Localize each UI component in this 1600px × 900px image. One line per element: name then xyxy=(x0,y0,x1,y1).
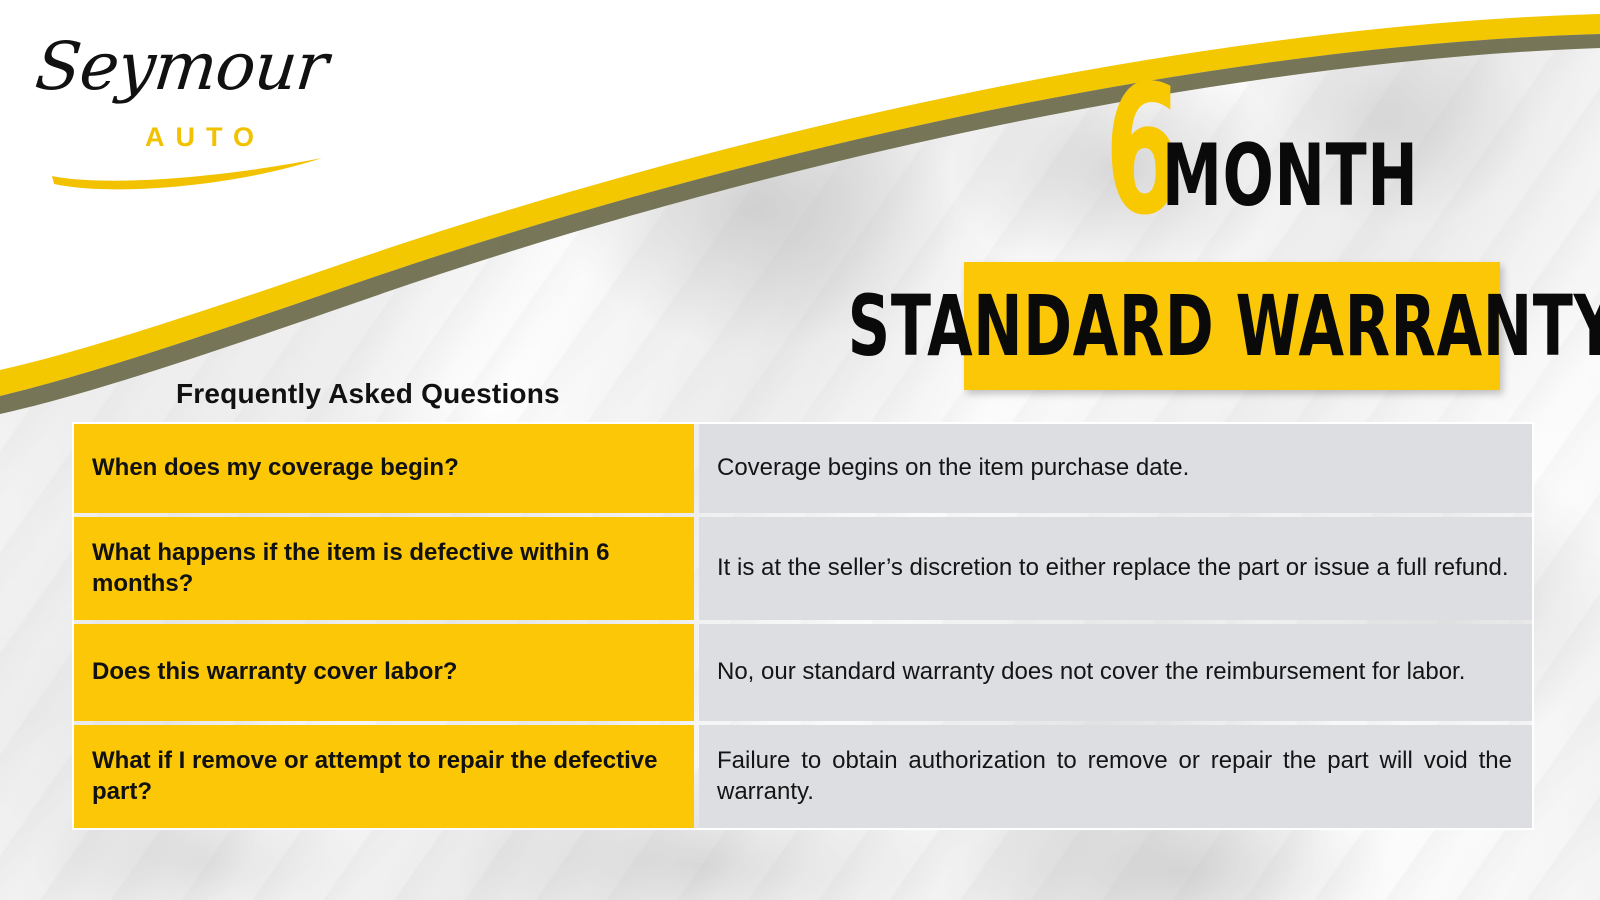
faq-question-cell: What happens if the item is defective wi… xyxy=(74,517,694,620)
table-row: What happens if the item is defective wi… xyxy=(74,517,1532,620)
logo-wordmark: Seymour xyxy=(32,28,331,105)
faq-question-cell: When does my coverage begin? xyxy=(74,424,694,513)
logo-swoosh-icon xyxy=(30,132,330,192)
warranty-duration-badge: 6 MONTH xyxy=(1060,78,1528,224)
faq-heading: Frequently Asked Questions xyxy=(176,378,560,410)
table-row: Does this warranty cover labor? No, our … xyxy=(74,624,1532,721)
warranty-slide: Seymour AUTO 6 MONTH STANDARD WARRANTY F… xyxy=(0,0,1600,900)
faq-question-cell: What if I remove or attempt to repair th… xyxy=(74,725,694,828)
standard-warranty-banner: STANDARD WARRANTY xyxy=(964,262,1500,390)
faq-question-cell: Does this warranty cover labor? xyxy=(74,624,694,721)
faq-answer-cell: Failure to obtain authorization to remov… xyxy=(699,725,1532,828)
faq-answer-cell: It is at the seller’s discretion to eith… xyxy=(699,517,1532,620)
faq-answer-cell: Coverage begins on the item purchase dat… xyxy=(699,424,1532,513)
faq-answer-cell: No, our standard warranty does not cover… xyxy=(699,624,1532,721)
standard-warranty-title: STANDARD WARRANTY xyxy=(847,284,1600,368)
seymour-auto-logo: Seymour AUTO xyxy=(30,22,330,177)
faq-table: When does my coverage begin? Coverage be… xyxy=(72,422,1534,830)
duration-unit: MONTH xyxy=(1162,141,1418,224)
table-row: When does my coverage begin? Coverage be… xyxy=(74,424,1532,513)
table-row: What if I remove or attempt to repair th… xyxy=(74,725,1532,828)
